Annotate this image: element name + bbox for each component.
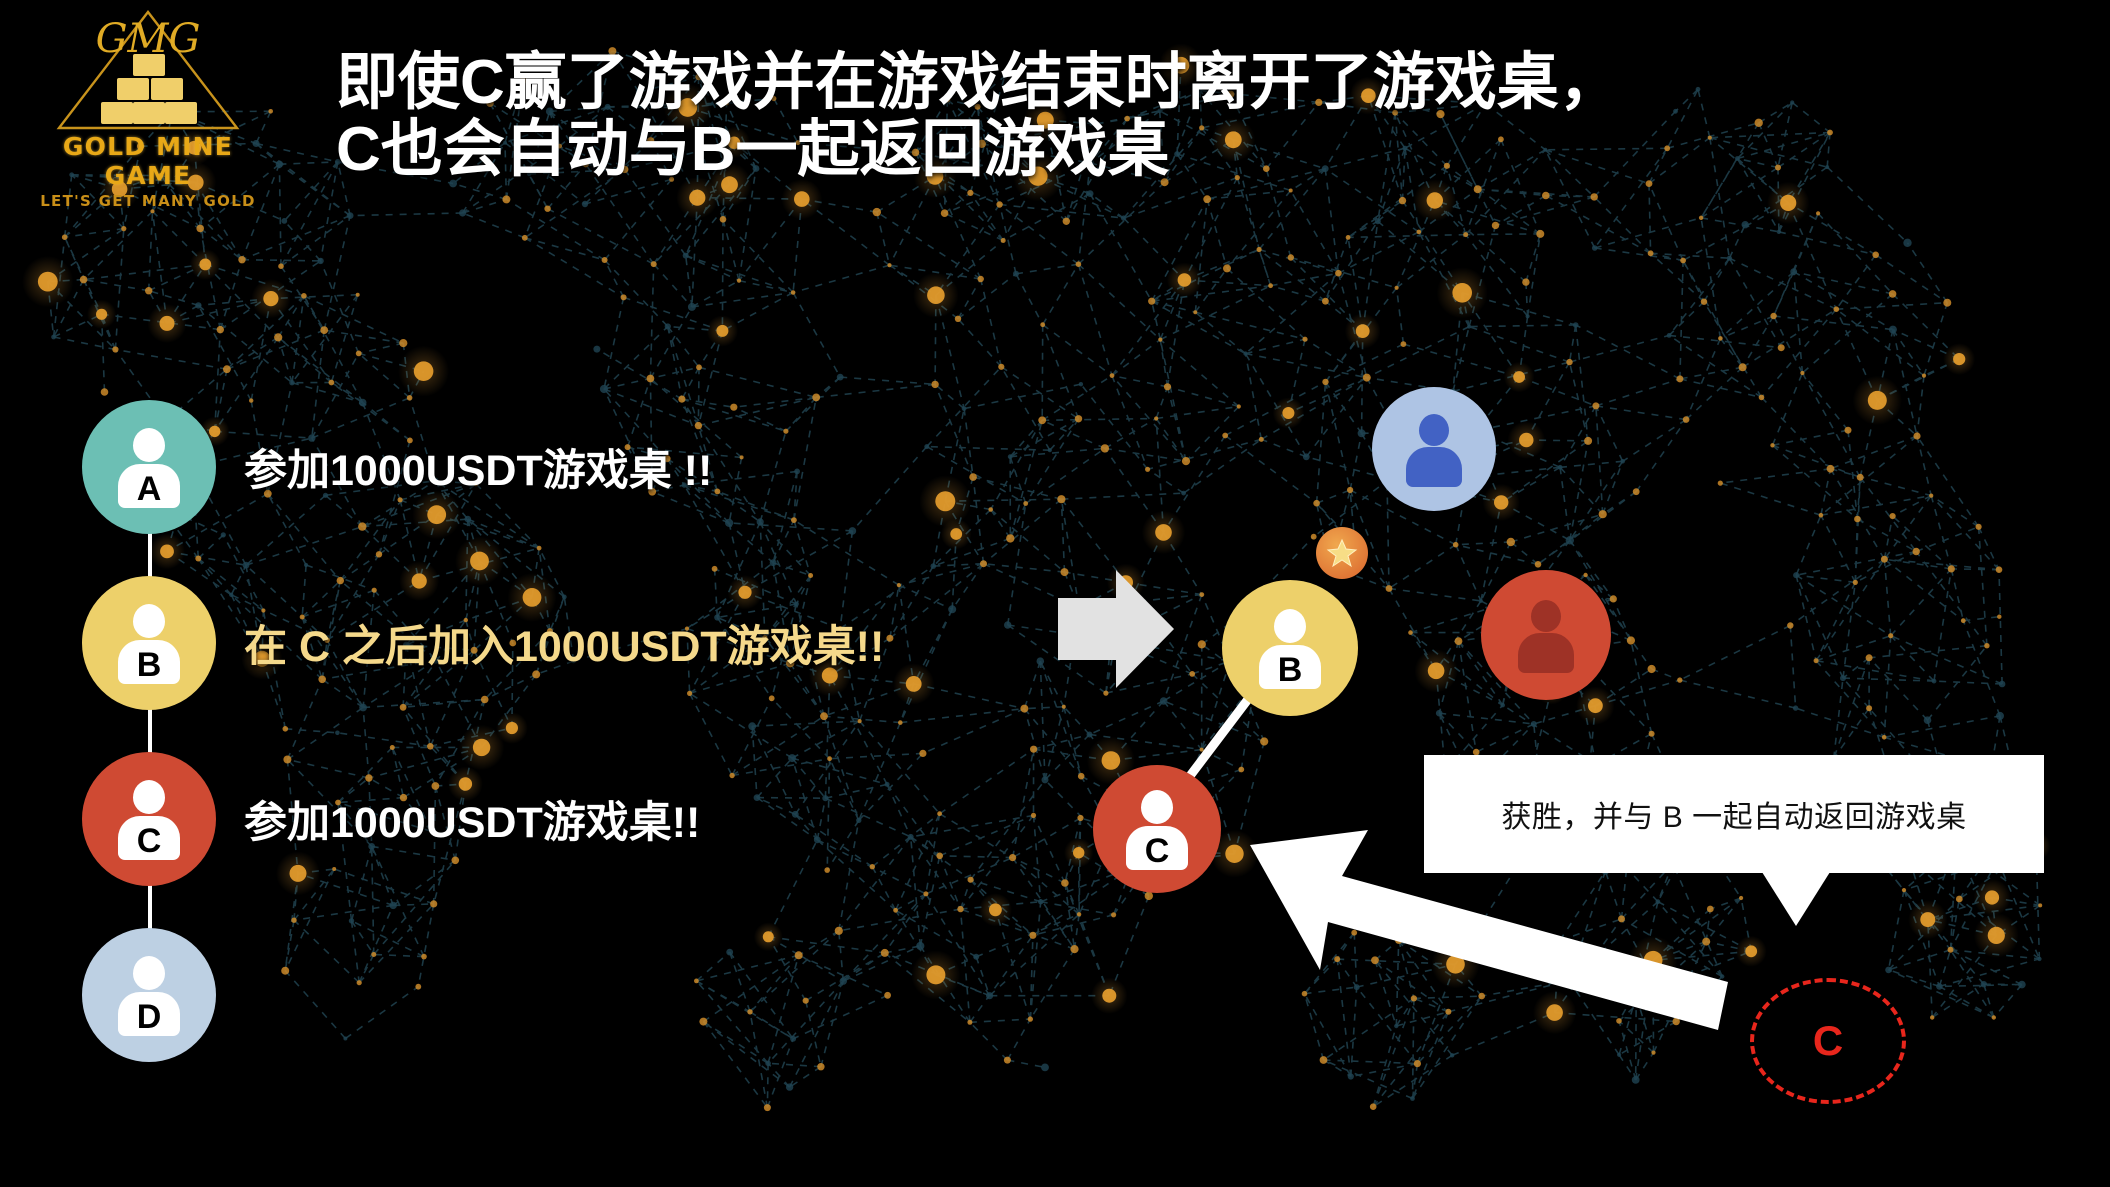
scene-node-red[interactable] [1481, 570, 1611, 700]
dashed-circle-letter: C [1813, 1017, 1843, 1065]
star-badge-icon [1316, 527, 1368, 579]
dashed-circle-c: C [1750, 978, 1906, 1104]
scene-node-c[interactable]: C [1093, 765, 1221, 893]
scene-node-blue[interactable] [1372, 387, 1496, 511]
person-icon [1405, 414, 1463, 484]
speech-bubble-tail [1762, 872, 1830, 926]
person-icon: B [1257, 609, 1323, 687]
scene-node-b-letter: B [1257, 653, 1323, 687]
big-arrow-left-icon [1250, 830, 1730, 1035]
scene-node-b[interactable]: B [1222, 580, 1358, 716]
person-icon [1517, 600, 1575, 670]
slide-canvas: GMG GOLD MINE GAME LET'S GET MANY GOLD 即… [0, 0, 2110, 1187]
scene-node-c-letter: C [1124, 834, 1190, 868]
person-icon: C [1124, 790, 1190, 868]
